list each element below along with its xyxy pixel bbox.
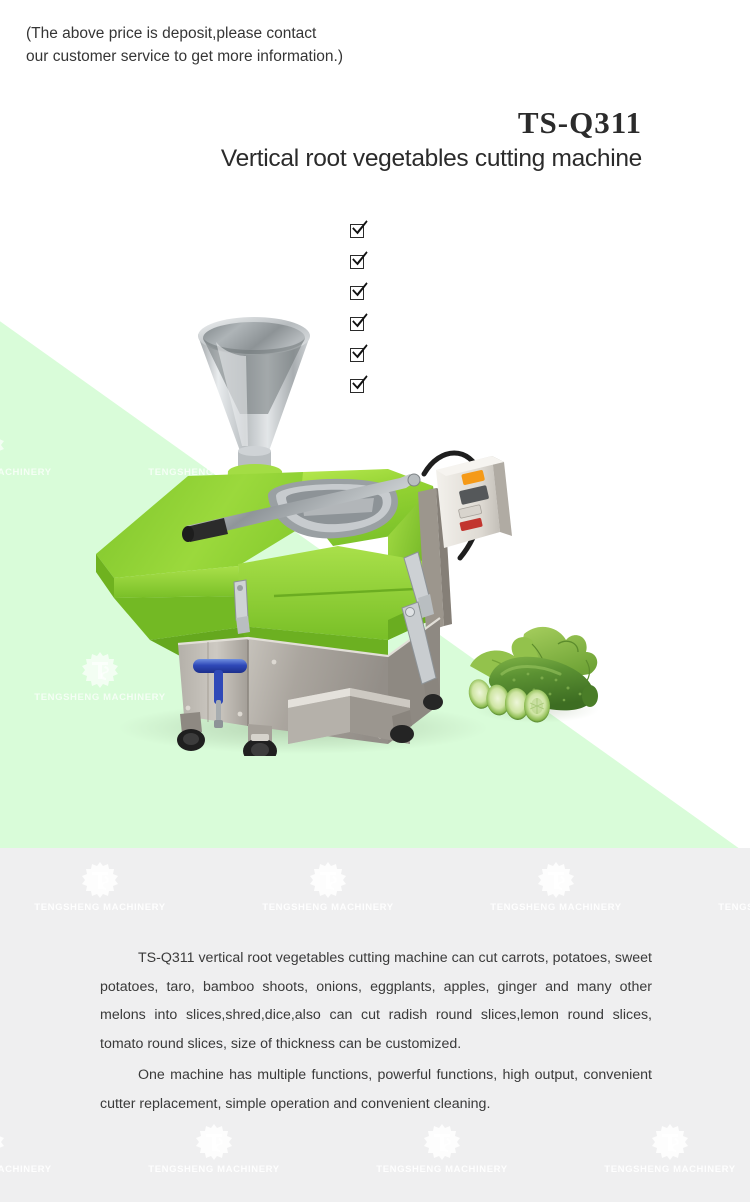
- product-detail-page: TENGSHENG MACHINERYTENGSHENG MACHINERYTE…: [0, 0, 750, 1202]
- watermark-label: TENGSHENG MACHINERY: [456, 242, 656, 253]
- watermark-label: TENGSHENG MACHINERY: [684, 692, 750, 703]
- model-code-title: TS-Q311: [518, 105, 642, 141]
- watermark-tile: TENGSHENG MACHINERY: [0, 200, 200, 253]
- watermark-tile: TENGSHENG MACHINERY: [456, 860, 656, 913]
- watermark-label: TENGSHENG MACHINERY: [228, 902, 428, 913]
- description-paragraph-1: TS-Q311 vertical root vegetables cutting…: [100, 944, 652, 1058]
- watermark-tile: TENGSHENG MACHINERY: [684, 860, 750, 913]
- feature-item: [350, 245, 375, 276]
- description-paragraph-2: One machine has multiple functions, powe…: [100, 1061, 652, 1118]
- watermark-label: TENGSHENG MACHINERY: [456, 902, 656, 913]
- watermark-tile: TENGSHENG MACHINERY: [456, 200, 656, 253]
- watermark-tile: TENGSHENG MACHINERY: [684, 650, 750, 703]
- watermark-label: TENGSHENG MACHINERY: [684, 242, 750, 253]
- watermark-tile: TENGSHENG MACHINERY: [228, 860, 428, 913]
- watermark-tile: TENGSHENG MACHINERY: [228, 200, 428, 253]
- watermark-tile: TENGSHENG MACHINERY: [342, 1122, 542, 1175]
- watermark-label: TENGSHENG MACHINERY: [0, 242, 200, 253]
- watermark-label: TENGSHENG MACHINERY: [114, 1164, 314, 1175]
- price-note-line-1: (The above price is deposit,please conta…: [26, 22, 456, 45]
- watermark-label: TENGSHENG MACHINERY: [342, 1164, 542, 1175]
- watermark-tile: TENGSHENG MACHINERY: [570, 1122, 750, 1175]
- product-image: [88, 296, 518, 756]
- check-box-icon: [350, 222, 366, 238]
- machine-green-body: [96, 464, 440, 658]
- watermark-label: TENGSHENG MACHINERY: [570, 1164, 750, 1175]
- funnel-hopper: [198, 317, 310, 484]
- watermark-tile: TENGSHENG MACHINERY: [114, 1122, 314, 1175]
- check-box-icon: [350, 253, 366, 269]
- watermark-tile: TENGSHENG MACHINERY: [570, 425, 750, 478]
- watermark-label: TENGSHENG MACHINERY: [228, 242, 428, 253]
- price-deposit-note: (The above price is deposit,please conta…: [26, 22, 456, 68]
- feature-item: [350, 214, 375, 245]
- watermark-tile: TENGSHENG MACHINERY: [0, 1122, 86, 1175]
- watermark-tile: TENGSHENG MACHINERY: [0, 860, 200, 913]
- description-body: TS-Q311 vertical root vegetables cutting…: [100, 944, 652, 1118]
- hero-section: TENGSHENG MACHINERYTENGSHENG MACHINERYTE…: [0, 0, 750, 848]
- watermark-label: TENGSHENG MACHINERY: [0, 1164, 86, 1175]
- model-name-subtitle: Vertical root vegetables cutting machine: [0, 145, 642, 173]
- watermark-label: TENGSHENG MACHINERY: [570, 467, 750, 478]
- watermark-tile: TENGSHENG MACHINERY: [684, 200, 750, 253]
- price-note-line-2: our customer service to get more informa…: [26, 45, 456, 68]
- description-section: TENGSHENG MACHINERYTENGSHENG MACHINERYTE…: [0, 848, 750, 1202]
- watermark-label: TENGSHENG MACHINERY: [0, 902, 200, 913]
- watermark-label: TENGSHENG MACHINERY: [684, 902, 750, 913]
- vegetable-image: [462, 618, 612, 728]
